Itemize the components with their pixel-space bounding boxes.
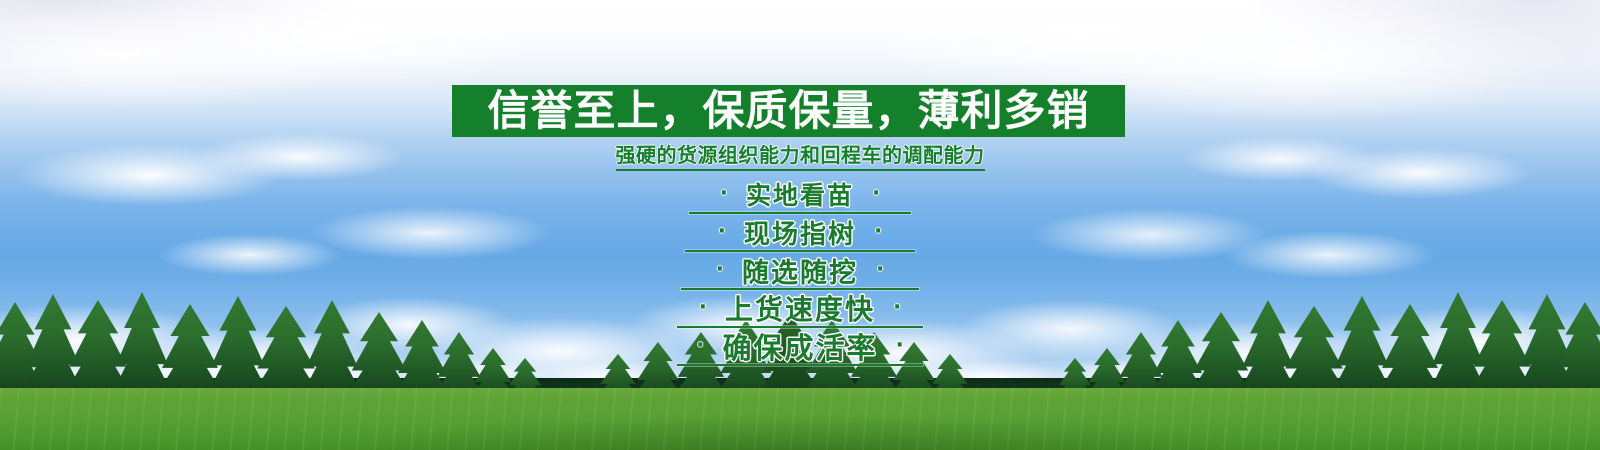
bullet-dot-right: · [872, 183, 880, 205]
bullet-dot-right: · [876, 259, 884, 281]
feature-row: · 上货速度快 · [699, 290, 902, 326]
bullet-dot-right: · [893, 297, 901, 319]
feature-label: 确保成活率 [722, 325, 877, 367]
bullet-dot-left: · [716, 259, 724, 281]
feature-label: 上货速度快 [725, 288, 875, 328]
headline-text: 信誉至上，保质保量，薄利多销 [487, 90, 1089, 132]
headline-banner: 信誉至上，保质保量，薄利多销 [452, 85, 1125, 137]
field-shading [0, 388, 1600, 450]
subtitle-text: 强硬的货源组织能力和回程车的调配能力 [616, 142, 985, 171]
feature-label: 随选随挖 [742, 251, 858, 290]
feature-row: · 实地看苗 · [720, 176, 881, 212]
promo-banner: 信誉至上，保质保量，薄利多销 强硬的货源组织能力和回程车的调配能力 · 实地看苗… [0, 0, 1600, 450]
feature-label: 现场指树 [744, 214, 856, 251]
subtitle: 强硬的货源组织能力和回程车的调配能力 [0, 142, 1600, 171]
bullet-dot-right: · [874, 221, 882, 243]
bullet-dot-left: · [720, 183, 728, 205]
feature-label: 实地看苗 [746, 176, 854, 212]
feature-list: · 实地看苗 · · 现场指树 · · 随选随挖 · · 上货速度快 · · 确… [0, 176, 1600, 366]
bullet-dot-left: · [699, 297, 707, 319]
bullet-dot-left: · [696, 335, 704, 357]
bullet-dot-right: · [896, 335, 904, 357]
feature-row: · 现场指树 · [718, 214, 883, 250]
feature-row: · 确保成活率 · [696, 328, 904, 364]
feature-row: · 随选随挖 · [716, 252, 885, 288]
bullet-dot-left: · [718, 221, 726, 243]
